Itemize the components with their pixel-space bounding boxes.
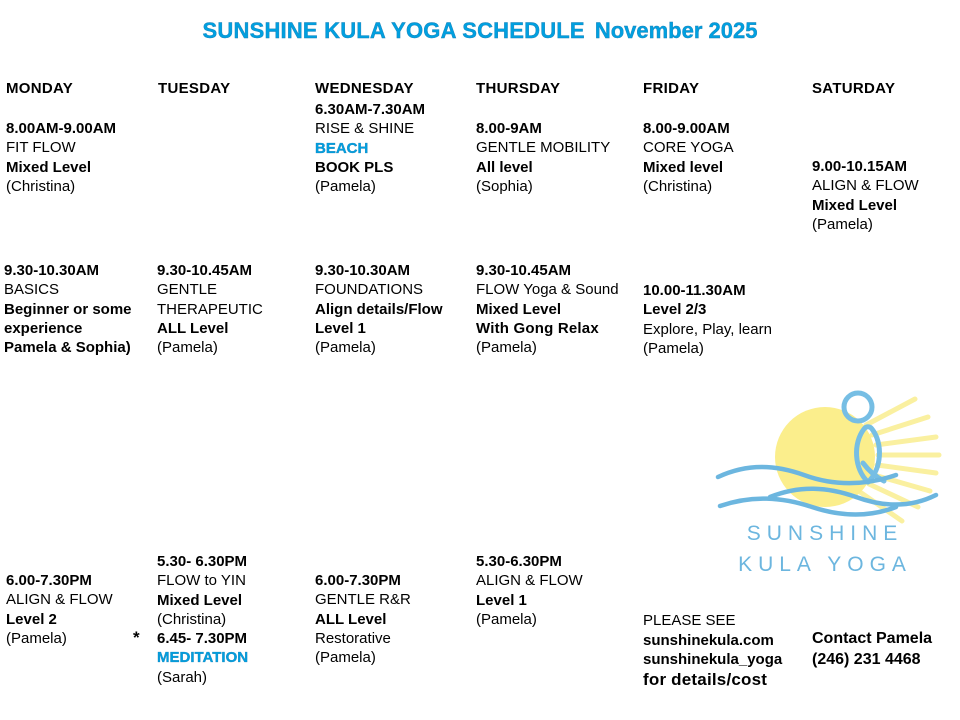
- class-name: FOUNDATIONS: [315, 280, 443, 299]
- contact-website[interactable]: sunshinekula.com: [643, 631, 782, 651]
- class-teacher: (Pamela): [643, 339, 772, 358]
- class-name: GENTLE: [157, 280, 263, 299]
- class-teacher: (Sophia): [476, 177, 610, 196]
- class-time: 5.30-6.30PM: [476, 552, 583, 571]
- class-level: Beginner or some: [4, 300, 132, 319]
- class-level: Mixed level: [643, 158, 734, 177]
- contact-number[interactable]: (246) 231 4468: [812, 649, 932, 670]
- logo-line-2: KULA YOGA: [700, 549, 950, 580]
- class-level-2: Level 1: [315, 319, 443, 338]
- class-time: 6.00-7.30PM: [6, 571, 113, 590]
- class-teacher: (Pamela): [315, 177, 425, 196]
- class-level-2: Restorative: [315, 629, 411, 648]
- contact-details: for details/cost: [643, 670, 782, 690]
- class-block-saturday-morning: 9.00-10.15AM ALIGN & FLOW Mixed Level (P…: [812, 157, 919, 234]
- class-location: BEACH: [315, 139, 425, 158]
- contact-phone-block: Contact Pamela (246) 231 4468: [812, 628, 932, 670]
- class-teacher: (Sarah): [157, 668, 248, 687]
- class-teacher: Pamela & Sophia): [4, 338, 132, 357]
- class-block-friday-midmorning: 10.00-11.30AM Level 2/3 Explore, Play, l…: [643, 281, 772, 358]
- class-note: BOOK PLS: [315, 158, 425, 177]
- class-block-thursday-midmorning: 9.30-10.45AM FLOW Yoga & Sound Mixed Lev…: [476, 261, 619, 357]
- class-block-thursday-morning: 8.00-9AM GENTLE MOBILITY All level (Soph…: [476, 119, 610, 196]
- class-time: 8.00-9.00AM: [643, 119, 734, 138]
- class-block-wednesday-evening: 6.00-7.30PM GENTLE R&R ALL Level Restora…: [315, 571, 411, 667]
- class-time: 9.00-10.15AM: [812, 157, 919, 176]
- day-header-saturday: SATURDAY: [812, 80, 895, 97]
- contact-please-see: PLEASE SEE: [643, 611, 782, 631]
- title-main-text: SUNSHINE KULA YOGA SCHEDULE: [203, 18, 585, 43]
- class-level-2: experience: [4, 319, 132, 338]
- class-teacher: (Christina): [157, 610, 247, 629]
- class-level: Level 2/3: [643, 300, 772, 319]
- class-teacher: (Pamela): [476, 610, 583, 629]
- class-level: ALL Level: [315, 610, 411, 629]
- class-teacher: (Pamela): [157, 338, 263, 357]
- class-name: ALIGN & FLOW: [476, 571, 583, 590]
- asterisk-marker: *: [133, 629, 140, 646]
- class-time: 8.00-9AM: [476, 119, 610, 138]
- class-block-thursday-evening: 5.30-6.30PM ALIGN & FLOW Level 1 (Pamela…: [476, 552, 583, 629]
- title-month-text: November 2025: [595, 18, 758, 43]
- class-teacher: (Pamela): [812, 215, 919, 234]
- class-name: GENTLE MOBILITY: [476, 138, 610, 157]
- class-block-friday-morning: 8.00-9.00AM CORE YOGA Mixed level (Chris…: [643, 119, 734, 196]
- class-time: 9.30-10.45AM: [157, 261, 263, 280]
- class-level: Level 1: [476, 591, 583, 610]
- class-name: FLOW Yoga & Sound: [476, 280, 619, 299]
- class-block-tuesday-evening-meditation: 6.45- 7.30PM MEDITATION (Sarah): [157, 629, 248, 687]
- class-time: 10.00-11.30AM: [643, 281, 772, 300]
- day-header-thursday: THURSDAY: [476, 80, 560, 97]
- class-teacher: (Pamela): [315, 648, 411, 667]
- page-title: SUNSHINE KULA YOGA SCHEDULENovember 2025: [0, 18, 960, 44]
- class-name: MEDITATION: [157, 648, 248, 667]
- class-level: Level 2: [6, 610, 113, 629]
- day-header-wednesday: WEDNESDAY: [315, 80, 414, 97]
- day-header-friday: FRIDAY: [643, 80, 699, 97]
- logo-line-1: SUNSHINE: [700, 518, 950, 549]
- class-time: 6.30AM-7.30AM: [315, 100, 425, 119]
- class-name: FIT FLOW: [6, 138, 116, 157]
- logo-sun-figure-waves-icon: [700, 385, 950, 535]
- class-teacher: (Pamela): [6, 629, 113, 648]
- class-time: 9.30-10.30AM: [315, 261, 443, 280]
- class-block-tuesday-evening: 5.30- 6.30PM FLOW to YIN Mixed Level (Ch…: [157, 552, 247, 629]
- logo-wordmark: SUNSHINE KULA YOGA: [700, 518, 950, 580]
- class-block-monday-morning: 8.00AM-9.00AM FIT FLOW Mixed Level (Chri…: [6, 119, 116, 196]
- day-header-tuesday: TUESDAY: [158, 80, 230, 97]
- contact-info: PLEASE SEE sunshinekula.com sunshinekula…: [643, 611, 782, 689]
- class-time: 9.30-10.30AM: [4, 261, 132, 280]
- class-level: All level: [476, 158, 610, 177]
- class-teacher: (Christina): [643, 177, 734, 196]
- day-header-monday: MONDAY: [6, 80, 73, 97]
- class-block-wednesday-midmorning: 9.30-10.30AM FOUNDATIONS Align details/F…: [315, 261, 443, 357]
- class-block-monday-evening: 6.00-7.30PM ALIGN & FLOW Level 2 (Pamela…: [6, 571, 113, 648]
- class-level: Mixed Level: [476, 300, 619, 319]
- class-name: GENTLE R&R: [315, 590, 411, 609]
- class-name-2: THERAPEUTIC: [157, 300, 263, 319]
- class-level: ALL Level: [157, 319, 263, 338]
- class-time: 9.30-10.45AM: [476, 261, 619, 280]
- contact-instagram[interactable]: sunshinekula_yoga: [643, 650, 782, 670]
- class-name: ALIGN & FLOW: [6, 590, 113, 609]
- class-block-tuesday-midmorning: 9.30-10.45AM GENTLE THERAPEUTIC ALL Leve…: [157, 261, 263, 357]
- class-block-wednesday-morning: 6.30AM-7.30AM RISE & SHINE BEACH BOOK PL…: [315, 100, 425, 196]
- class-name: FLOW to YIN: [157, 571, 247, 590]
- class-time: 6.45- 7.30PM: [157, 629, 248, 648]
- class-note: With Gong Relax: [476, 319, 619, 338]
- class-name: BASICS: [4, 280, 132, 299]
- figure-head-icon: [844, 393, 872, 421]
- class-level: Mixed Level: [812, 196, 919, 215]
- class-teacher: (Christina): [6, 177, 116, 196]
- class-time: 5.30- 6.30PM: [157, 552, 247, 571]
- class-block-monday-midmorning: 9.30-10.30AM BASICS Beginner or some exp…: [4, 261, 132, 357]
- class-level: Align details/Flow: [315, 300, 443, 319]
- class-time: 8.00AM-9.00AM: [6, 119, 116, 138]
- class-level: Mixed Level: [6, 158, 116, 177]
- class-time: 6.00-7.30PM: [315, 571, 411, 590]
- class-level: Mixed Level: [157, 591, 247, 610]
- contact-name: Contact Pamela: [812, 628, 932, 649]
- class-name: Explore, Play, learn: [643, 320, 772, 339]
- class-name: CORE YOGA: [643, 138, 734, 157]
- class-name: ALIGN & FLOW: [812, 176, 919, 195]
- class-name: RISE & SHINE: [315, 119, 425, 138]
- class-teacher: (Pamela): [315, 338, 443, 357]
- schedule-page: SUNSHINE KULA YOGA SCHEDULENovember 2025…: [0, 0, 960, 720]
- class-teacher: (Pamela): [476, 338, 619, 357]
